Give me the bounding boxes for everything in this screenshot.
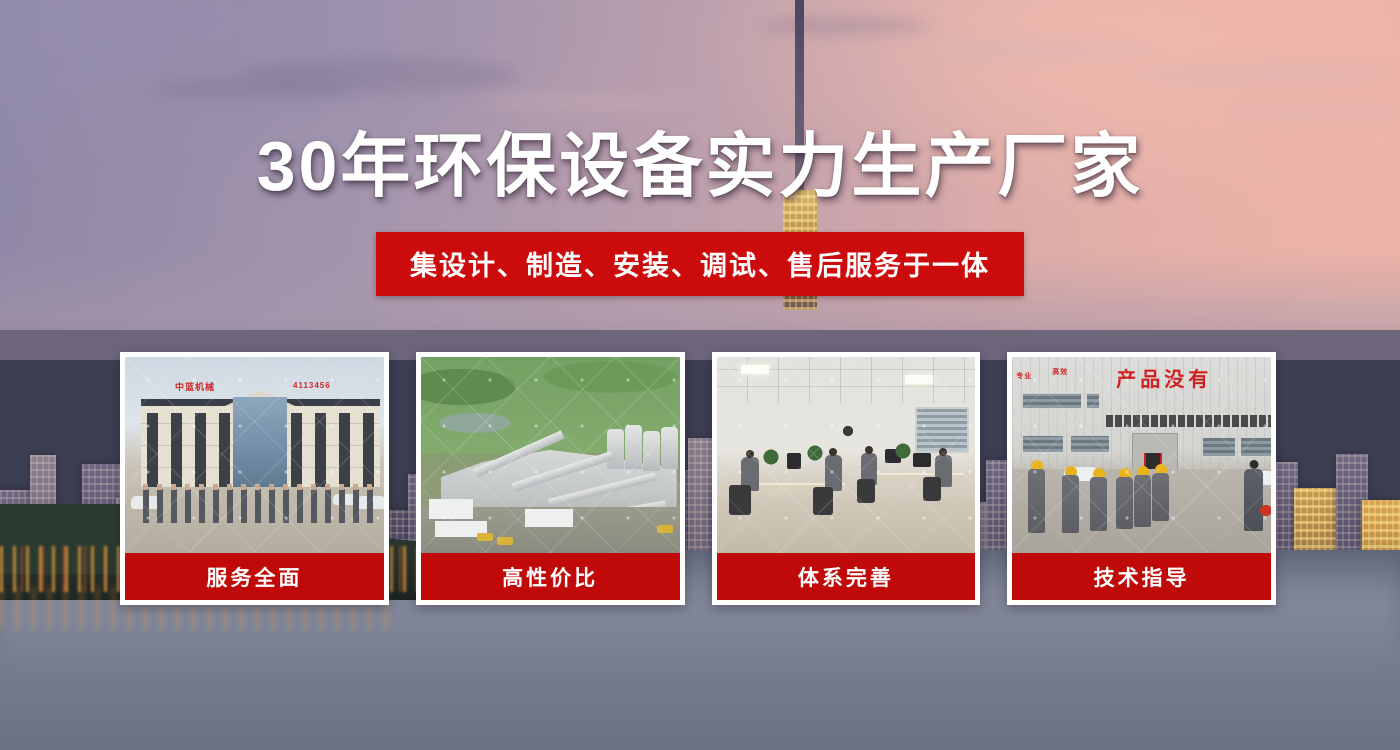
feature-card[interactable]: 中蓝机械 4113456 服务全面 (120, 352, 389, 605)
card-photo-aerial-plant (421, 357, 680, 553)
subtitle-banner-wrapper: 集设计、制造、安装、调试、售后服务于一体 (0, 232, 1400, 296)
feature-card[interactable]: 专业 高效 产品没有 (1007, 352, 1276, 605)
cloud-shape (1130, 62, 1390, 86)
page-title: 30年环保设备实力生产厂家 (0, 131, 1400, 201)
cloud-shape (150, 78, 350, 100)
card-label: 服务全面 (125, 553, 384, 600)
feature-card[interactable]: 体系完善 (712, 352, 981, 605)
card-photo-factory-workers: 专业 高效 产品没有 (1012, 357, 1271, 553)
card-label: 体系完善 (717, 553, 976, 600)
card-photo-office-building: 中蓝机械 4113456 (125, 357, 384, 553)
card-photo-office-interior (717, 357, 976, 553)
promo-banner-stage: 30年环保设备实力生产厂家 集设计、制造、安装、调试、售后服务于一体 中蓝机械 … (0, 0, 1400, 750)
cloud-shape (930, 40, 1160, 60)
photo-slogan-small: 专业 (1016, 371, 1032, 381)
card-label: 技术指导 (1012, 553, 1271, 600)
photo-company-name: 中蓝机械 (175, 380, 215, 393)
photo-slogan: 产品没有 (1116, 363, 1212, 392)
subtitle-banner: 集设计、制造、安装、调试、售后服务于一体 (376, 232, 1024, 296)
cloud-shape (1230, 105, 1400, 121)
feature-card-list: 中蓝机械 4113456 服务全面 (120, 352, 1276, 605)
photo-phone-number: 4113456 (293, 381, 331, 390)
photo-slogan-small: 高效 (1052, 367, 1068, 377)
feature-card[interactable]: 高性价比 (416, 352, 685, 605)
cloud-shape (480, 95, 700, 110)
cloud-shape (760, 18, 930, 34)
card-label: 高性价比 (421, 553, 680, 600)
